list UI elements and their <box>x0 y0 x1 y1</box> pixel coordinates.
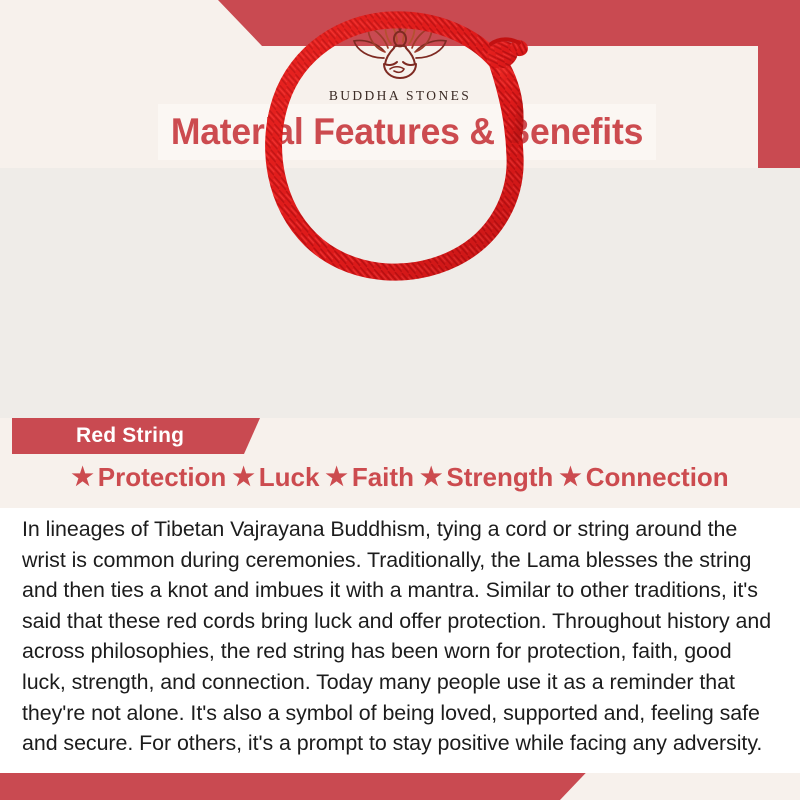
star-icon: ★ <box>71 465 93 490</box>
star-icon: ★ <box>420 465 442 490</box>
product-image <box>235 0 565 300</box>
red-braided-string-bracelet-image <box>235 0 565 300</box>
material-label-text: Red String <box>76 424 184 448</box>
description-panel: In lineages of Tibetan Vajrayana Buddhis… <box>0 508 800 773</box>
feature-item-connection: ★ Connection <box>559 462 728 493</box>
star-icon: ★ <box>325 465 347 490</box>
feature-label: Strength <box>446 462 553 493</box>
feature-strip: Red String ★ Protection ★ Luck ★ Faith ★… <box>0 418 800 508</box>
feature-label: Luck <box>259 462 320 493</box>
feature-item-luck: ★ Luck <box>232 462 319 493</box>
description-text: In lineages of Tibetan Vajrayana Buddhis… <box>22 514 774 759</box>
infographic-page: BUDDHA STONES Material Features & Benefi… <box>0 0 800 800</box>
feature-item-strength: ★ Strength <box>420 462 553 493</box>
material-label-banner: Red String <box>12 418 260 454</box>
feature-item-protection: ★ Protection <box>71 462 226 493</box>
feature-label: Connection <box>586 462 729 493</box>
feature-item-faith: ★ Faith <box>325 462 414 493</box>
feature-list: ★ Protection ★ Luck ★ Faith ★ Strength ★… <box>0 462 800 493</box>
feature-label: Protection <box>98 462 227 493</box>
star-icon: ★ <box>559 465 581 490</box>
feature-label: Faith <box>352 462 414 493</box>
star-icon: ★ <box>232 465 254 490</box>
